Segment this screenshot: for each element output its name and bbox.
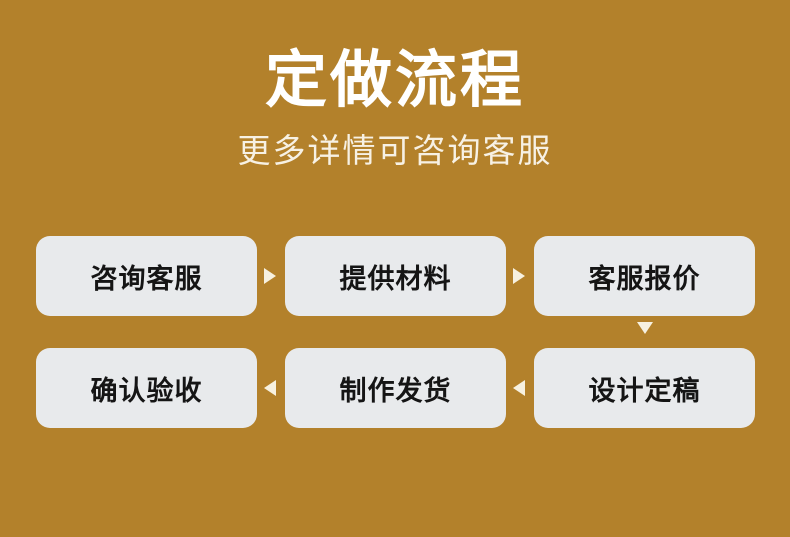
flow-node-label: 制作发货 (340, 369, 452, 408)
page-subtitle: 更多详情可咨询客服 (0, 132, 790, 170)
flow-node-label: 提供材料 (340, 257, 452, 296)
arrow-right-icon (264, 268, 276, 284)
process-flow-diagram: 咨询客服 提供材料 客服报价 确认验收 制作发货 设计定稿 (36, 236, 755, 428)
arrow-left-icon (264, 380, 276, 396)
flow-node-design-finalized[interactable]: 设计定稿 (534, 348, 755, 428)
arrow-left-icon (513, 380, 525, 396)
process-flow-row-top: 咨询客服 提供材料 客服报价 (36, 236, 755, 316)
flow-node-label: 设计定稿 (589, 369, 701, 408)
flow-node-service-quote[interactable]: 客服报价 (534, 236, 755, 316)
page-title: 定做流程 (0, 46, 790, 116)
flow-node-provide-materials[interactable]: 提供材料 (285, 236, 506, 316)
flow-node-confirm-acceptance[interactable]: 确认验收 (36, 348, 257, 428)
arrow-right-icon (513, 268, 525, 284)
flow-node-produce-and-ship[interactable]: 制作发货 (285, 348, 506, 428)
flow-node-consult-service[interactable]: 咨询客服 (36, 236, 257, 316)
poster-header: 定做流程 更多详情可咨询客服 (0, 46, 790, 170)
customization-process-poster: 定做流程 更多详情可咨询客服 咨询客服 提供材料 客服报价 确认验收 制作发货 (0, 0, 790, 537)
flow-node-label: 客服报价 (589, 257, 701, 296)
arrow-down-icon (637, 322, 653, 334)
flow-node-label: 确认验收 (91, 369, 203, 408)
process-flow-row-bottom: 确认验收 制作发货 设计定稿 (36, 348, 755, 428)
flow-node-label: 咨询客服 (91, 257, 203, 296)
